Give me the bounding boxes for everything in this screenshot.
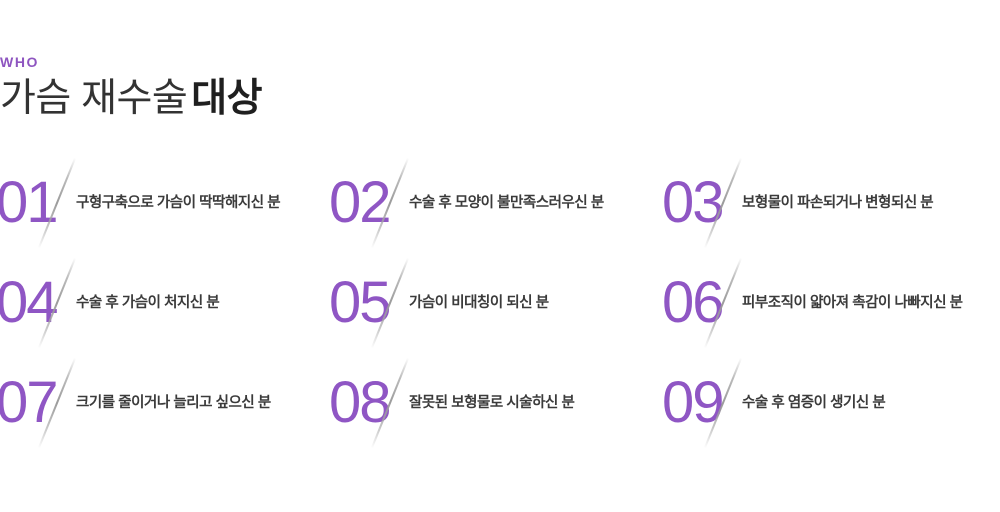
- item-label: 구형구축으로 가슴이 딱딱해지신 분: [74, 194, 280, 213]
- number-badge-03: 03: [666, 153, 740, 253]
- number-badge-02: 02: [333, 153, 407, 253]
- criteria-item-06: 06 피부조직이 얇아져 촉감이 나빠지신 분: [666, 253, 1000, 353]
- page-title: 가슴 재수술대상: [0, 78, 262, 120]
- criteria-item-02: 02 수술 후 모양이 불만족스러우신 분: [333, 153, 666, 253]
- item-label: 잘못된 보형물로 시술하신 분: [407, 394, 574, 413]
- number-badge-06: 06: [666, 253, 740, 353]
- criteria-item-09: 09 수술 후 염증이 생기신 분: [666, 353, 1000, 453]
- page-root: WHO 가슴 재수술대상 01 구형구축으로 가슴이 딱딱해지신 분 02 수술…: [0, 0, 1000, 512]
- criteria-item-07: 07 크기를 줄이거나 늘리고 싶으신 분: [0, 353, 333, 453]
- criteria-grid: 01 구형구축으로 가슴이 딱딱해지신 분 02 수술 후 모양이 불만족스러우…: [0, 153, 1000, 453]
- item-label: 수술 후 가슴이 처지신 분: [74, 294, 219, 313]
- criteria-item-08: 08 잘못된 보형물로 시술하신 분: [333, 353, 666, 453]
- criteria-item-03: 03 보형물이 파손되거나 변형되신 분: [666, 153, 1000, 253]
- number-badge-07: 07: [0, 353, 74, 453]
- item-label: 크기를 줄이거나 늘리고 싶으신 분: [74, 394, 271, 413]
- criteria-item-04: 04 수술 후 가슴이 처지신 분: [0, 253, 333, 353]
- page-title-light: 가슴 재수술: [0, 77, 187, 120]
- number-badge-04: 04: [0, 253, 74, 353]
- criteria-item-01: 01 구형구축으로 가슴이 딱딱해지신 분: [0, 153, 333, 253]
- number-badge-08: 08: [333, 353, 407, 453]
- item-label: 가슴이 비대칭이 되신 분: [407, 294, 549, 313]
- item-label: 수술 후 염증이 생기신 분: [740, 394, 885, 413]
- number-badge-09: 09: [666, 353, 740, 453]
- item-label: 피부조직이 얇아져 촉감이 나빠지신 분: [740, 294, 963, 313]
- eyebrow-label: WHO: [0, 55, 262, 69]
- criteria-item-05: 05 가슴이 비대칭이 되신 분: [333, 253, 666, 353]
- page-header: WHO 가슴 재수술대상: [0, 55, 262, 120]
- page-title-bold: 대상: [191, 77, 262, 120]
- item-label: 보형물이 파손되거나 변형되신 분: [740, 194, 933, 213]
- number-badge-01: 01: [0, 153, 74, 253]
- number-badge-05: 05: [333, 253, 407, 353]
- item-label: 수술 후 모양이 불만족스러우신 분: [407, 194, 604, 213]
